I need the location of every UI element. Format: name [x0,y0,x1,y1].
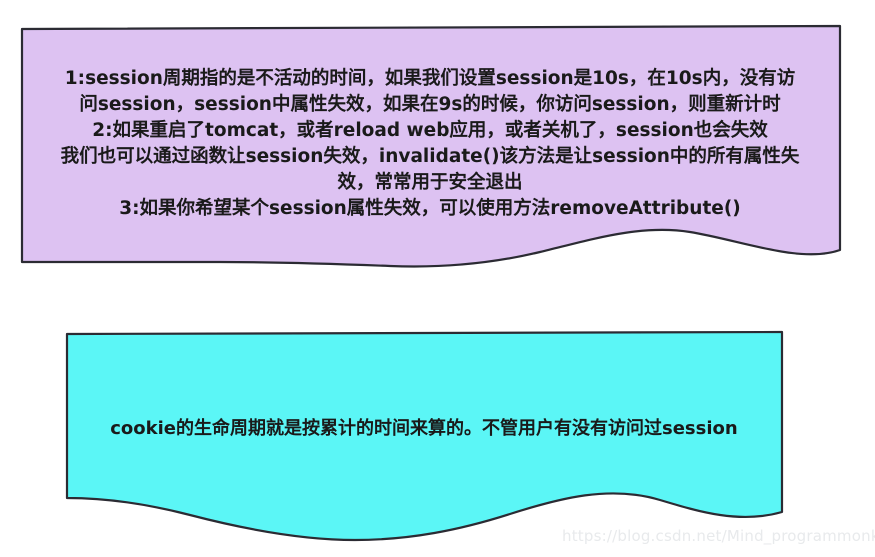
watermark-url: https://blog.csdn.net/Mind_programmonkey [562,527,875,545]
diagram-canvas: 1:session周期指的是不活动的时间，如果我们设置session是10s，在… [0,0,875,557]
purple-note-line: 问session，session中属性失效，如果在9s的时候，你访问sessio… [18,92,842,118]
purple-note-line: 1:session周期指的是不活动的时间，如果我们设置session是10s，在… [18,66,842,92]
purple-note-text: 1:session周期指的是不活动的时间，如果我们设置session是10s，在… [18,66,842,222]
cyan-note-line: cookie的生命周期就是按累计的时间来算的。不管用户有没有访问过session [110,418,737,439]
purple-note-line: 2:如果重启了tomcat，或者reload web应用，或者关机了，sessi… [18,118,842,144]
text-layer: 1:session周期指的是不活动的时间，如果我们设置session是10s，在… [0,0,875,557]
cyan-note-text: cookie的生命周期就是按累计的时间来算的。不管用户有没有访问过session [66,415,782,443]
purple-note-line: 我们也可以通过函数让session失效，invalidate()该方法是让ses… [18,144,842,170]
purple-note-line: 效，常常用于安全退出 [18,170,842,196]
purple-note-line: 3:如果你希望某个session属性失效，可以使用方法removeAttribu… [18,196,842,222]
